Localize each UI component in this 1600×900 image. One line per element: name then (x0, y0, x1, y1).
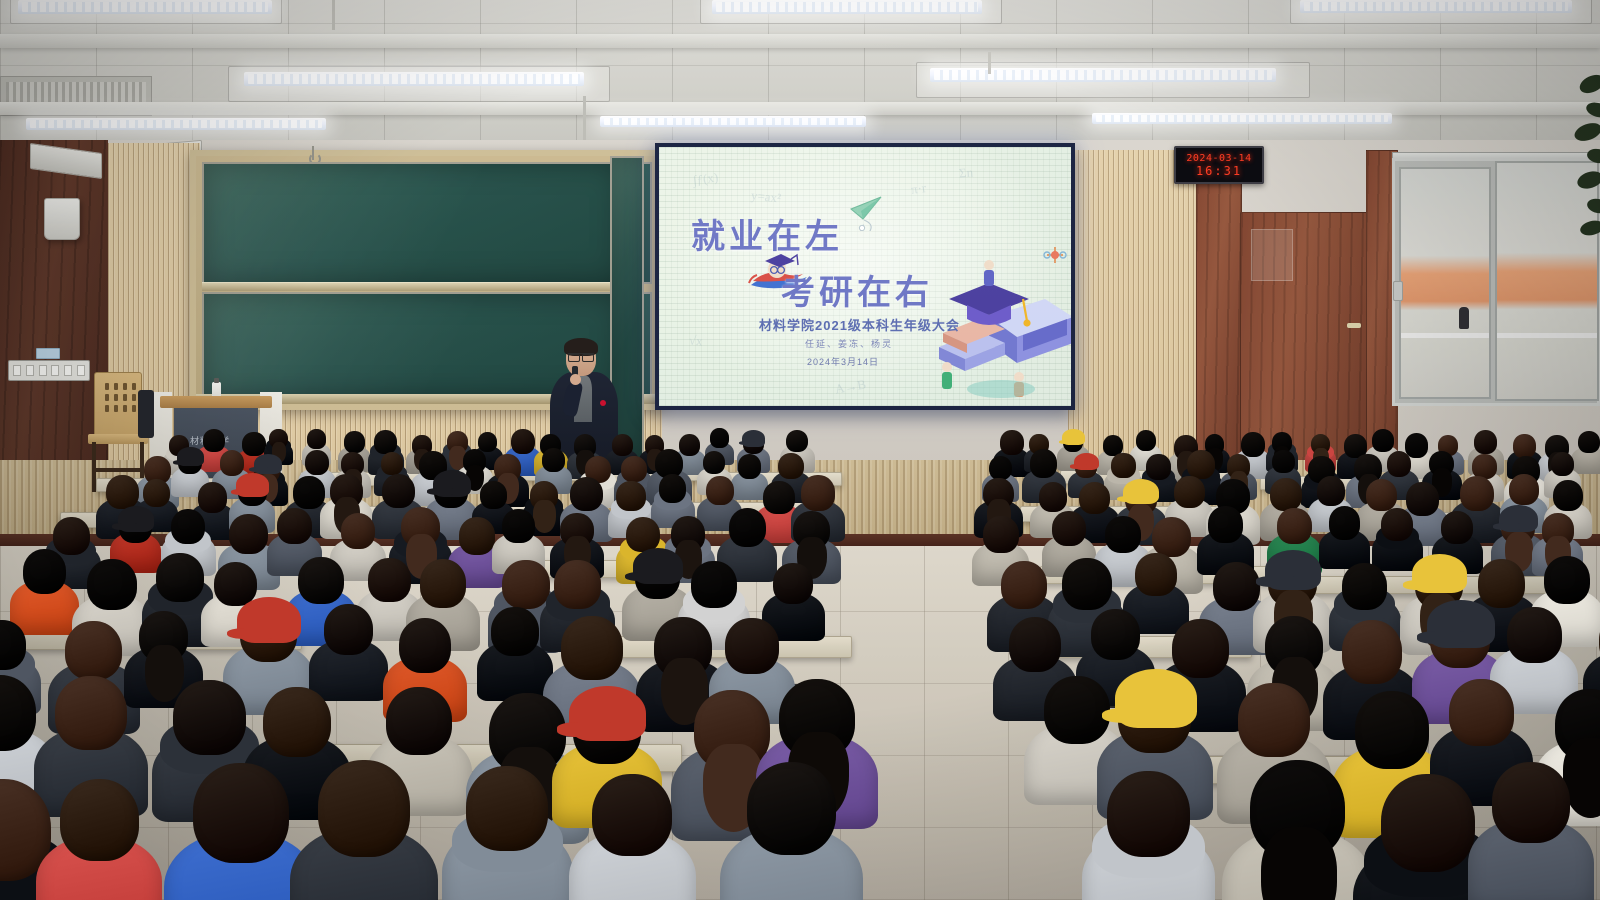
audience-head (1052, 511, 1086, 546)
audience-head (1213, 562, 1260, 611)
audience-head (466, 766, 548, 851)
audience-head (156, 553, 204, 603)
audience-head (1172, 619, 1229, 679)
audience-head (502, 560, 549, 609)
audience-member (0, 675, 36, 789)
audience-head (747, 762, 837, 855)
audience-head (143, 479, 170, 507)
audience-member (502, 509, 535, 560)
audience-head (1544, 556, 1590, 604)
audience-head (1381, 774, 1475, 872)
audience-head (480, 481, 507, 509)
audience-head (399, 618, 452, 673)
audience-head (220, 450, 245, 476)
cap-icon (1062, 429, 1085, 445)
audience-member (1250, 760, 1345, 900)
audience-head (1277, 508, 1311, 544)
audience-head (1208, 506, 1243, 543)
audience-head (542, 448, 565, 472)
audience-head (459, 517, 495, 555)
cap-icon (118, 506, 154, 532)
cap-icon (177, 447, 204, 466)
audience-member (729, 508, 767, 566)
audience-head (659, 474, 686, 503)
audience-head (263, 687, 330, 757)
audience-head (60, 779, 139, 861)
audience-member (1441, 511, 1473, 560)
audience-head (1241, 432, 1265, 457)
audience-head (1317, 476, 1345, 505)
cap-icon (1115, 669, 1197, 727)
audience-head (1174, 476, 1205, 508)
audience-head (1553, 480, 1583, 512)
audience-member (1501, 508, 1535, 561)
audience-head (626, 517, 660, 553)
audience-member (747, 762, 837, 900)
audience-head (983, 516, 1019, 553)
audience-member (1052, 511, 1086, 563)
audience-member (178, 450, 202, 487)
audience-head (65, 621, 122, 681)
audience-head (592, 774, 671, 857)
audience-head (570, 477, 603, 512)
audience-head (1355, 691, 1429, 768)
audience-head (1578, 431, 1600, 454)
cap-icon (1265, 550, 1320, 590)
audience-head (1474, 430, 1497, 454)
audience-head (1079, 482, 1110, 515)
audience-head (1238, 683, 1310, 757)
audience-head (729, 508, 767, 547)
audience-head (23, 549, 66, 594)
audience-member (793, 511, 830, 568)
audience-head (1329, 506, 1361, 539)
audience-member (368, 558, 410, 623)
audience-head (725, 618, 779, 674)
audience-head (616, 481, 645, 511)
audience-head (773, 563, 813, 604)
audience-head (738, 454, 761, 478)
ponytail (1261, 827, 1337, 900)
audience-head (778, 453, 804, 480)
audience-head (554, 560, 601, 609)
audience-head (1030, 449, 1057, 478)
audience-member (659, 474, 686, 517)
audience-member (1107, 771, 1190, 899)
audience-head (1135, 553, 1176, 596)
audience-head (989, 456, 1012, 480)
audience-head (1507, 607, 1562, 664)
audience-head (1270, 478, 1302, 511)
cap-icon (742, 430, 765, 447)
lecture-hall-photo: ∫ƒ(x) y=ax² Σn π·r √x A→B (0, 0, 1600, 900)
audience-member (560, 513, 593, 565)
audience-head (1111, 453, 1135, 478)
audience-member (23, 549, 66, 616)
audience-member (1381, 774, 1475, 900)
audience-head (1039, 482, 1067, 511)
audience-head (1441, 511, 1473, 544)
audience-head (1492, 762, 1571, 844)
audience-head (1342, 620, 1403, 683)
audience-head (341, 513, 376, 549)
audience-head (1460, 476, 1494, 511)
audience-head (801, 475, 835, 510)
audience-member (324, 604, 373, 680)
audience-head (171, 509, 205, 545)
audience-head (1387, 451, 1412, 477)
audience-head (293, 476, 324, 509)
audience (0, 0, 1600, 900)
audience-head (242, 432, 265, 456)
audience-head (381, 452, 403, 475)
audience-head (511, 429, 535, 454)
audience-head (561, 616, 622, 680)
audience-head (1342, 563, 1387, 610)
audience-head (1000, 430, 1024, 455)
audience-member (1578, 431, 1600, 465)
audience-head (1513, 434, 1536, 457)
audience-head (710, 428, 729, 447)
audience-head (1449, 679, 1514, 746)
audience-head (87, 559, 137, 610)
audience-head (621, 456, 646, 482)
audience-head (1105, 516, 1141, 553)
audience-head (173, 680, 245, 755)
cap-icon (1123, 479, 1159, 505)
audience-member (60, 779, 139, 900)
audience-head (1107, 771, 1190, 857)
audience-member (738, 454, 761, 490)
cap-icon (1427, 600, 1494, 648)
audience-head (1044, 676, 1110, 745)
audience-head (307, 429, 326, 448)
audience-head (298, 557, 343, 604)
cap-icon (237, 597, 301, 643)
audience-head (203, 429, 225, 452)
audience-head (706, 476, 734, 505)
audience-head (324, 604, 373, 655)
audience-member (119, 509, 151, 559)
audience-member (1381, 508, 1413, 558)
audience-head (1372, 429, 1394, 452)
audience-head (1136, 430, 1156, 451)
audience-head (344, 431, 365, 452)
audience-head (1478, 559, 1525, 608)
audience-head (1551, 452, 1575, 476)
audience-member (466, 766, 548, 893)
audience-head (691, 561, 736, 608)
audience-member (277, 508, 311, 561)
audience-head (1091, 609, 1140, 660)
audience-member (542, 448, 565, 484)
audience-head (1009, 617, 1062, 672)
audience-head (703, 451, 725, 474)
audience-head (368, 558, 410, 602)
audience-head (1062, 558, 1112, 610)
audience-head (305, 450, 329, 475)
audience-head (277, 508, 311, 544)
audience-head (420, 559, 467, 608)
audience-head (386, 687, 451, 755)
audience-member (240, 603, 297, 691)
audience-head (1381, 508, 1413, 541)
cap-icon (1499, 505, 1538, 533)
audience-member (55, 676, 127, 787)
ponytail (533, 500, 555, 532)
audience-member (318, 760, 410, 900)
audience-member (1135, 553, 1176, 617)
audience-head (374, 430, 397, 454)
audience-member (635, 553, 680, 622)
audience-member (763, 481, 794, 530)
audience-head (502, 509, 535, 543)
audience-head (1001, 561, 1047, 609)
cap-icon (1412, 554, 1466, 593)
audience-head (491, 607, 539, 656)
cap-icon (254, 454, 283, 474)
audience-head (786, 430, 808, 453)
audience-head (1366, 479, 1397, 512)
cap-icon (1074, 453, 1099, 471)
cap-icon (236, 473, 268, 496)
audience-head (382, 474, 415, 509)
audience-head (1187, 450, 1215, 479)
audience-head (1272, 450, 1295, 473)
audience-member (1329, 506, 1361, 555)
audience-member (1208, 506, 1243, 561)
audience-member (269, 429, 288, 458)
audience-head (193, 763, 289, 863)
audience-member (592, 774, 671, 897)
audience-head (763, 481, 794, 514)
audience-head (1509, 474, 1539, 505)
audience-member (725, 618, 779, 701)
audience-member (491, 607, 539, 681)
cap-icon (433, 470, 471, 497)
audience-member (1507, 607, 1562, 692)
audience-head (318, 760, 410, 856)
audience-head (1146, 454, 1170, 479)
audience-head (612, 434, 633, 456)
audience-head (229, 514, 268, 554)
cap-icon (633, 548, 683, 584)
audience-member (139, 611, 188, 687)
cap-icon (569, 686, 646, 741)
audience-head (55, 676, 127, 750)
audience-member (1492, 762, 1571, 884)
audience-member (773, 563, 813, 624)
audience-head (1152, 517, 1191, 558)
audience-member (193, 763, 289, 900)
audience-head (106, 475, 139, 509)
